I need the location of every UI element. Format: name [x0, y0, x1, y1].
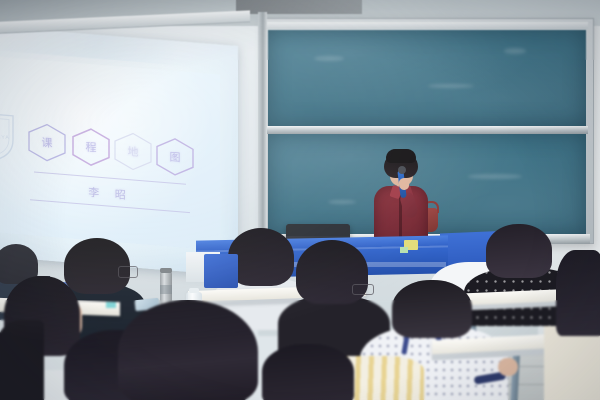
- teal-object: [106, 302, 116, 308]
- foreground-center-head: [118, 300, 258, 400]
- right-edge-person-hair: [556, 250, 600, 336]
- left-long-hair-woman-hair-fall: [0, 320, 44, 400]
- slide-hexagon-1-char: 课: [26, 121, 68, 164]
- glasses-icon: [352, 284, 374, 295]
- microphone-head-icon: [398, 166, 406, 174]
- chalkboard-upper-panel: [268, 30, 586, 126]
- presenter-hair-top: [386, 149, 416, 163]
- slide-hexagon-2-char: 程: [70, 125, 112, 168]
- slide-hexagon-4: 图: [154, 135, 196, 178]
- green-note: [400, 247, 408, 253]
- slide-hexagon-3: 地: [112, 130, 154, 173]
- slide-hexagon-4-char: 图: [154, 135, 196, 178]
- slide-hexagon-2: 程: [70, 125, 112, 168]
- slide-hexagon-1: 课: [26, 121, 68, 164]
- projected-slide: SANYA 课 程: [0, 56, 220, 250]
- polka-shirt-man-hand: [498, 358, 518, 376]
- back-right-polka-woman-hair: [486, 224, 552, 278]
- tumbler-label: [160, 285, 172, 294]
- presenter: [372, 152, 430, 248]
- blue-storage-bin: [204, 254, 238, 288]
- polka-shirt-man-hair: [392, 280, 472, 338]
- laptop-bag-flap: [286, 224, 350, 236]
- university-logo-text: SANYA: [0, 135, 16, 141]
- ceiling-shadow: [236, 0, 362, 14]
- water-bottle-cap: [189, 288, 199, 293]
- chalkboard-middle-rail: [266, 126, 588, 134]
- tumbler-lid: [160, 268, 172, 273]
- striped-shirt-person-hair: [262, 344, 354, 400]
- glasses-icon: [118, 266, 138, 278]
- board-frame-post: [258, 12, 267, 262]
- university-logo: SANYA: [0, 107, 16, 162]
- chalkboard-top-strip: [266, 22, 588, 29]
- right-edge-person-torso: [544, 326, 600, 400]
- projection-screen: SANYA 课 程: [0, 26, 238, 276]
- slide-hexagon-3-char: 地: [112, 130, 154, 173]
- classroom-photo: SANYA 课 程: [0, 0, 600, 400]
